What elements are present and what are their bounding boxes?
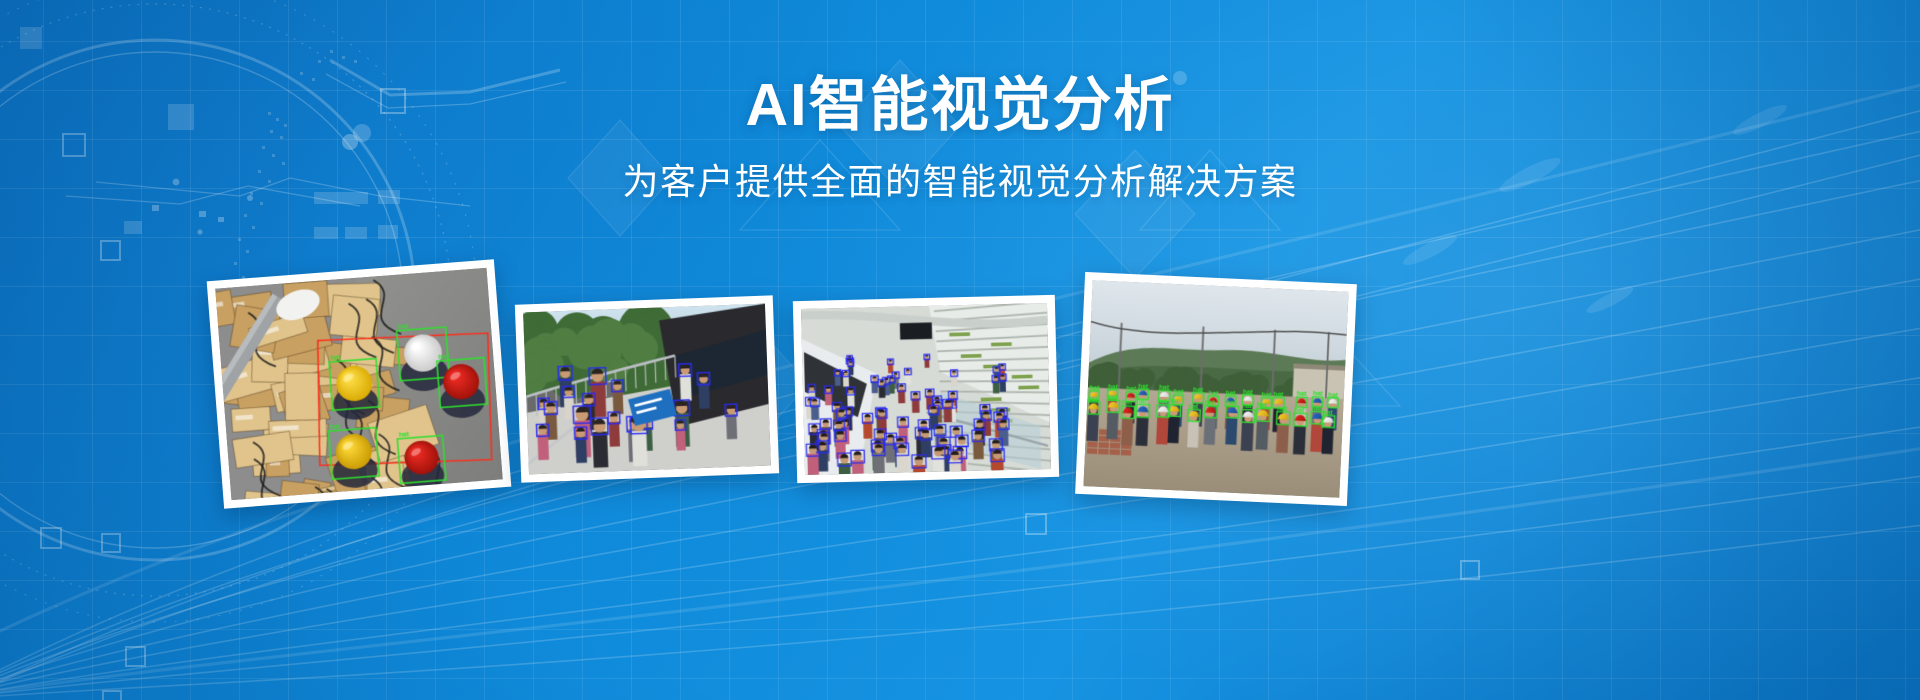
decor-filled-square <box>314 227 338 239</box>
gallery-card-warehouse-helmet-detection[interactable] <box>207 259 512 508</box>
gallery-card-outdoor-crowd-hat-detection[interactable] <box>1075 272 1357 506</box>
gallery-card-footbridge-face-detection[interactable] <box>515 295 779 482</box>
decor-filled-square <box>20 27 42 49</box>
decor-filled-square <box>345 227 367 239</box>
decor-outlined-square <box>1460 560 1480 580</box>
station-crowd-face-detection-image <box>801 303 1051 475</box>
detection-screenshot <box>1083 280 1348 497</box>
decor-filled-square <box>124 221 142 234</box>
outdoor-crowd-hat-detection-image <box>1083 280 1348 497</box>
decor-outlined-square <box>101 533 121 553</box>
ai-vision-banner: AI智能视觉分析 为客户提供全面的智能视觉分析解决方案 <box>0 0 1920 700</box>
footbridge-face-detection-image <box>523 304 771 475</box>
photo-gallery <box>0 258 1920 518</box>
detection-screenshot <box>215 268 502 500</box>
page-subtitle: 为客户提供全面的智能视觉分析解决方案 <box>0 160 1920 203</box>
detection-screenshot <box>801 303 1051 475</box>
gallery-card-station-crowd-face-detection[interactable] <box>793 295 1059 483</box>
decor-outlined-square <box>40 527 62 549</box>
decor-outlined-square <box>125 646 146 667</box>
warehouse-helmet-detection-image <box>215 268 502 500</box>
detection-screenshot <box>523 304 771 475</box>
page-title: AI智能视觉分析 <box>0 74 1920 138</box>
decor-outlined-square <box>102 690 122 700</box>
decor-filled-square <box>378 225 398 239</box>
headline-block: AI智能视觉分析 为客户提供全面的智能视觉分析解决方案 <box>0 74 1920 203</box>
